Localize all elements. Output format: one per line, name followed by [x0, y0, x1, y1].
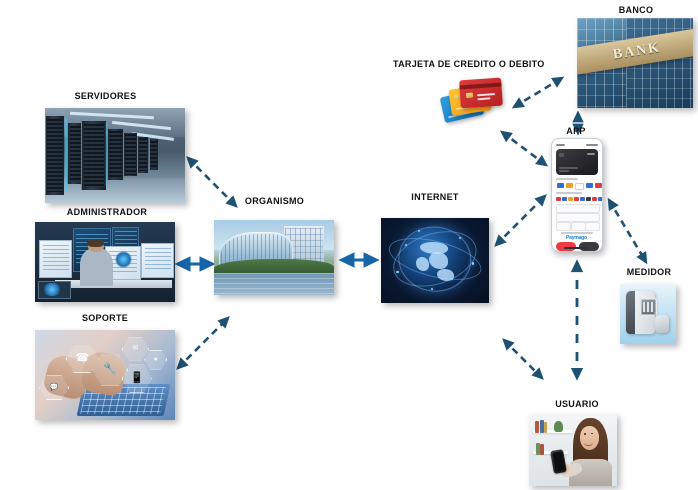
connector-servidores-organismo	[188, 158, 236, 206]
diagram-canvas: SERVIDORES ADMINISTRADOR	[0, 0, 698, 490]
label-organismo: ORGANISMO	[238, 196, 311, 207]
connector-tarjeta-banco	[514, 78, 562, 107]
label-internet: INTERNET	[405, 192, 465, 203]
connector-internet-usuario	[504, 340, 542, 378]
app-payment-brands	[557, 183, 602, 190]
soporte-photo: ☎ 🔧 ✉ 💬 📱 ●	[35, 330, 175, 420]
connector-soporte-organismo	[178, 318, 228, 368]
envelope-icon: ✉	[122, 337, 149, 361]
app-brand-strip	[556, 197, 603, 201]
app-input-cardnumber[interactable]	[556, 204, 600, 213]
connector-app-medidor	[609, 200, 646, 262]
banco-photo: BANK	[577, 18, 693, 108]
connector-tarjeta-app	[502, 132, 546, 165]
usuario-photo	[529, 414, 617, 486]
app-input-month[interactable]	[556, 222, 571, 231]
label-banco: BANCO	[612, 5, 660, 16]
label-medidor: MEDIDOR	[620, 267, 678, 278]
app-brand-logo: Paymago	[566, 235, 587, 241]
servidores-photo	[45, 108, 185, 203]
card-red	[459, 78, 503, 109]
connector-internet-app	[496, 196, 545, 245]
phone-status-bar	[552, 141, 602, 148]
internet-photo	[381, 218, 489, 303]
administrador-photo	[35, 222, 175, 302]
label-soporte: SOPORTE	[73, 313, 137, 324]
tarjeta-photo	[440, 75, 508, 127]
label-administrador: ADMINISTRADOR	[57, 207, 157, 218]
medidor-photo	[620, 284, 676, 344]
app-card-preview	[556, 149, 598, 175]
app-input-cvv[interactable]	[585, 222, 600, 231]
app-input-cardname[interactable]	[556, 213, 600, 222]
organismo-photo	[214, 220, 334, 295]
app-input-year[interactable]	[571, 222, 586, 231]
label-tarjeta: TARJETA DE CREDITO O DEBITO	[393, 59, 543, 70]
person-icon: ●	[144, 350, 167, 370]
label-usuario: USUARIO	[547, 399, 607, 410]
label-app: APP	[560, 126, 592, 137]
app-photo: Paymago	[551, 138, 603, 252]
bank-sign-text: BANK	[612, 40, 662, 63]
label-servidores: SERVIDORES	[68, 91, 143, 102]
